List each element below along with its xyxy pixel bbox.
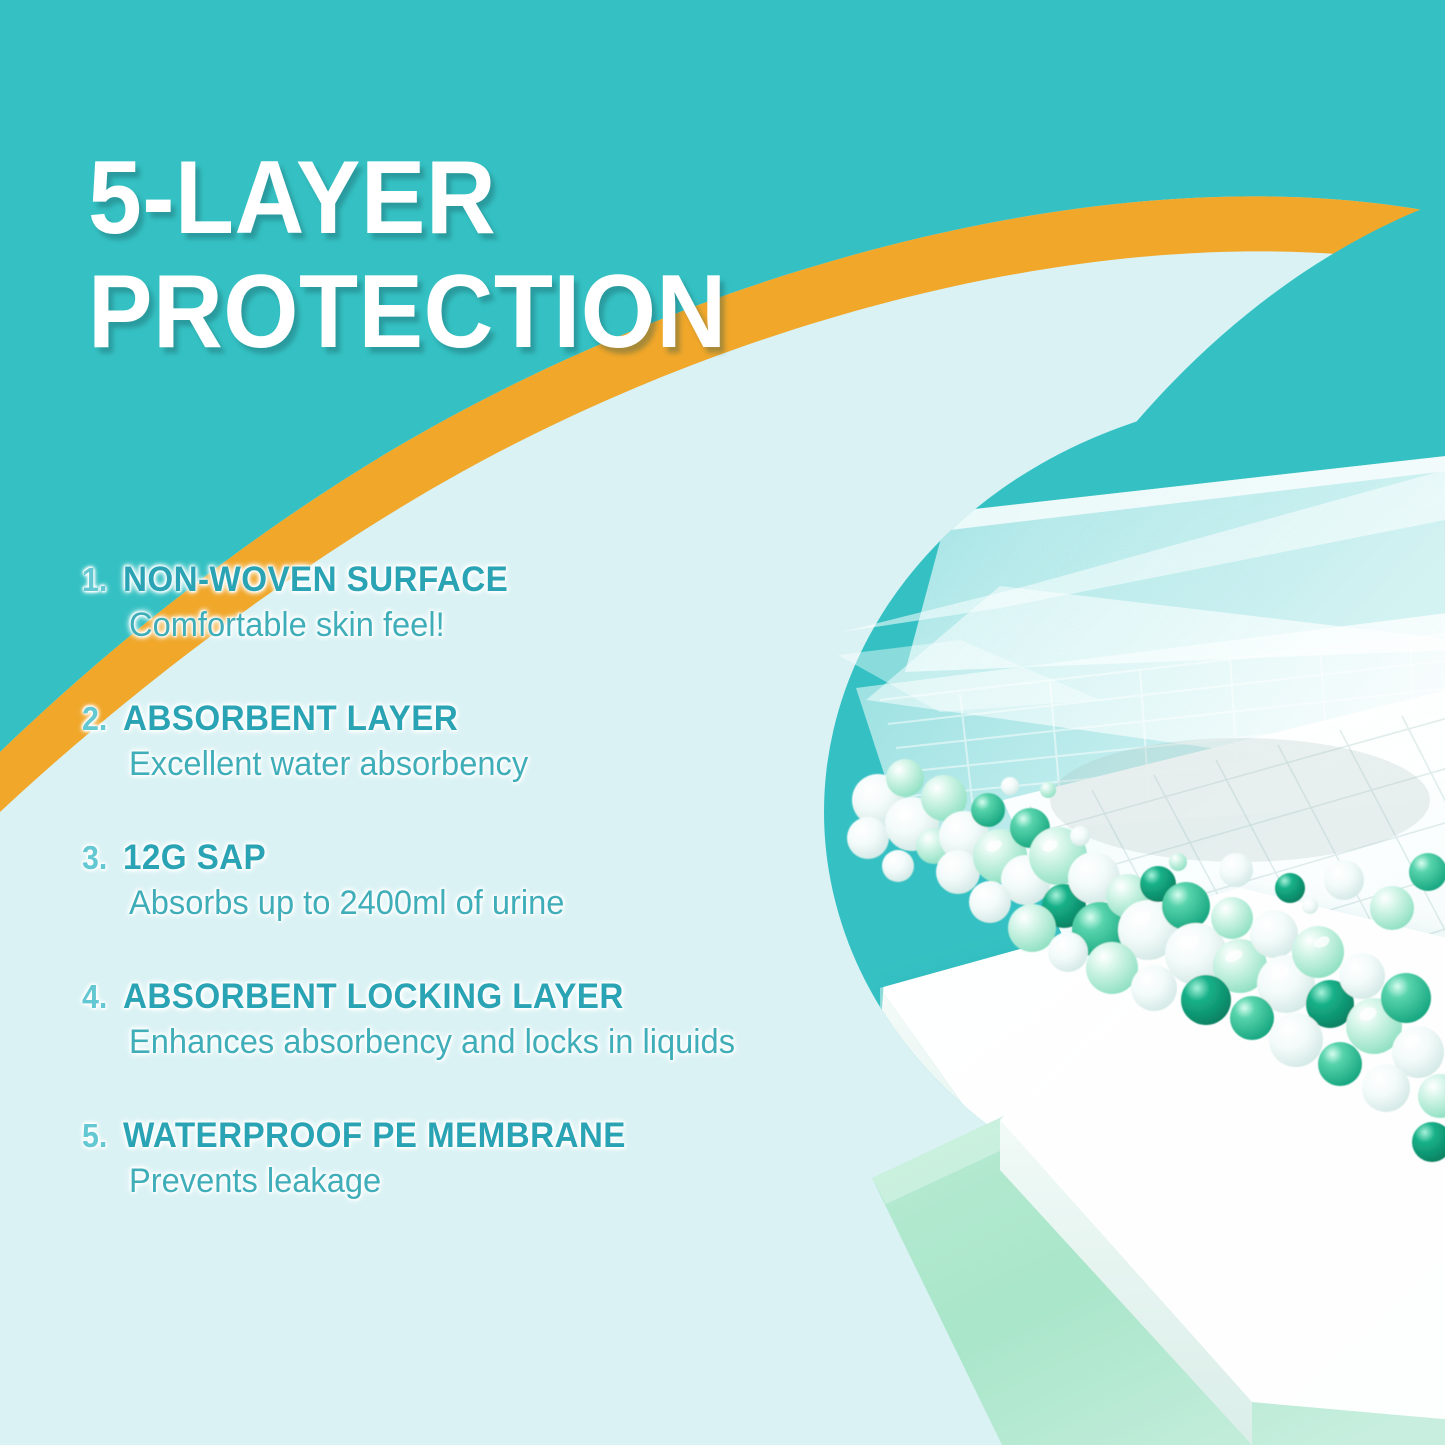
feature-title-3: 12G SAP [123, 838, 266, 878]
feature-number-2: 2. [82, 700, 107, 738]
feature-title-5: WATERPROOF PE MEMBRANE [123, 1116, 626, 1156]
feature-item-1: 1. NON-WOVEN SURFACE Comfortable skin fe… [82, 560, 882, 645]
feature-description-3: Absorbs up to 2400ml of urine [129, 884, 852, 923]
feature-item-5: 5. WATERPROOF PE MEMBRANE Prevents leaka… [82, 1116, 882, 1201]
feature-heading-3: 3. 12G SAP [82, 838, 882, 878]
feature-title-4: ABSORBENT LOCKING LAYER [123, 977, 624, 1017]
feature-number-4: 4. [82, 978, 107, 1016]
feature-item-2: 2. ABSORBENT LAYER Excellent water absor… [82, 699, 882, 784]
feature-list: 1. NON-WOVEN SURFACE Comfortable skin fe… [82, 560, 882, 1201]
feature-description-5: Prevents leakage [129, 1162, 852, 1201]
feature-heading-1: 1. NON-WOVEN SURFACE [82, 560, 882, 600]
infographic-canvas: Cutaway photo of a five-layer incontinen… [0, 0, 1445, 1445]
feature-description-2: Excellent water absorbency [129, 745, 852, 784]
feature-number-5: 5. [82, 1117, 107, 1155]
title-line-one: 5-LAYER [88, 148, 925, 250]
feature-item-4: 4. ABSORBENT LOCKING LAYER Enhances abso… [82, 977, 882, 1062]
feature-title-2: ABSORBENT LAYER [123, 699, 458, 739]
title-line-two: PROTECTION [88, 262, 925, 364]
feature-heading-5: 5. WATERPROOF PE MEMBRANE [82, 1116, 882, 1156]
feature-description-4: Enhances absorbency and locks in liquids [129, 1023, 852, 1062]
feature-title-1: NON-WOVEN SURFACE [123, 560, 508, 600]
feature-heading-4: 4. ABSORBENT LOCKING LAYER [82, 977, 882, 1017]
feature-number-1: 1. [82, 561, 107, 599]
feature-item-3: 3. 12G SAP Absorbs up to 2400ml of urine [82, 838, 882, 923]
feature-heading-2: 2. ABSORBENT LAYER [82, 699, 882, 739]
page-title: 5-LAYER PROTECTION [88, 148, 988, 364]
feature-number-3: 3. [82, 839, 107, 877]
feature-description-1: Comfortable skin feel! [129, 606, 852, 645]
